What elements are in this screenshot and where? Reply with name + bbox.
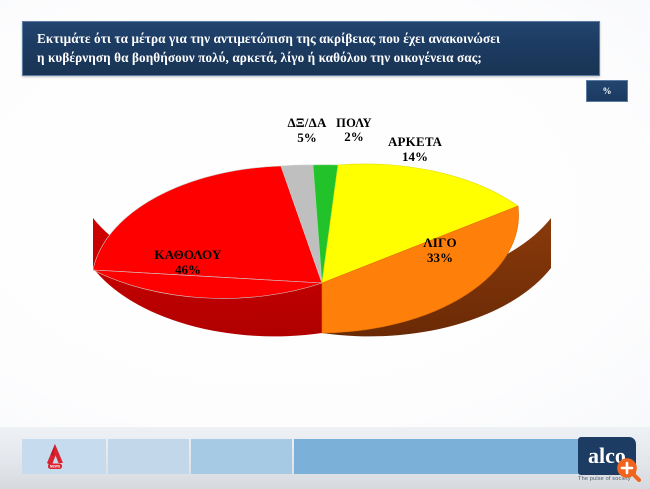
question-banner: Εκτιμάτε ότι τα μέτρα για την αντιμετώπι… [22,21,600,76]
footer-bar-segment-3 [191,439,292,474]
question-line-2: η κυβέρνηση θα βοηθήσουν πολύ, αρκετά, λ… [37,48,587,67]
magnifier-plus-icon [616,457,642,483]
percent-unit-badge: % [586,80,628,102]
question-line-1: Εκτιμάτε ότι τα μέτρα για την αντιμετώπι… [37,29,587,48]
pie-chart: ΔΞ/ΔΑ 5% ΠΟΛΥ 2% ΑΡΚΕΤΑ 14% ΛΙΓΟ 33% ΚΑΘ… [55,100,595,410]
alpha-news-a-icon: NEWS [40,442,70,472]
svg-text:NEWS: NEWS [50,465,61,469]
slide-canvas: Εκτιμάτε ότι τα μέτρα για την αντιμετώπι… [0,0,650,489]
footer-bar-segment-2 [108,439,189,474]
pie-svg [55,100,595,410]
footer-bar: NEWS alco The pulse of society [0,427,650,489]
footer-bar-segment-4 [294,439,579,474]
pie-chart-graphic [55,100,595,410]
